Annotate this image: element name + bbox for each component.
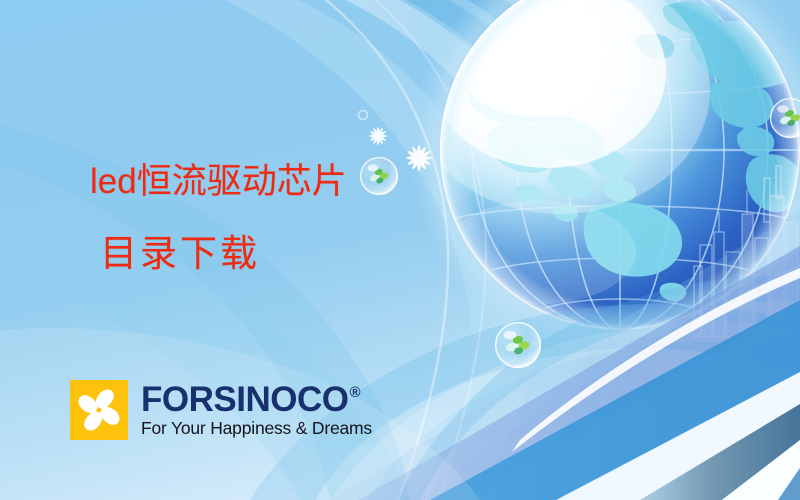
- poster-canvas: led恒流驱动芯片 目录下载 FORSINOCO ® For Your Happ…: [0, 0, 800, 500]
- pinwheel-logo-icon: [70, 380, 128, 440]
- bubble-center: [495, 322, 541, 368]
- logo-text-block: FORSINOCO ® For Your Happiness & Dreams: [141, 380, 372, 439]
- logo-wordmark-row: FORSINOCO ®: [141, 383, 360, 417]
- company-logo: FORSINOCO ® For Your Happiness & Dreams: [70, 380, 372, 440]
- headline-line-1: led恒流驱动芯片: [90, 164, 347, 199]
- headline-block: led恒流驱动芯片 目录下载: [90, 164, 347, 199]
- registered-trademark-icon: ®: [349, 385, 360, 400]
- bubble-left: [360, 157, 398, 195]
- headline-line-2: 目录下载: [100, 236, 260, 273]
- logo-wordmark-text: FORSINOCO: [141, 383, 348, 417]
- logo-tagline: For Your Happiness & Dreams: [141, 418, 372, 439]
